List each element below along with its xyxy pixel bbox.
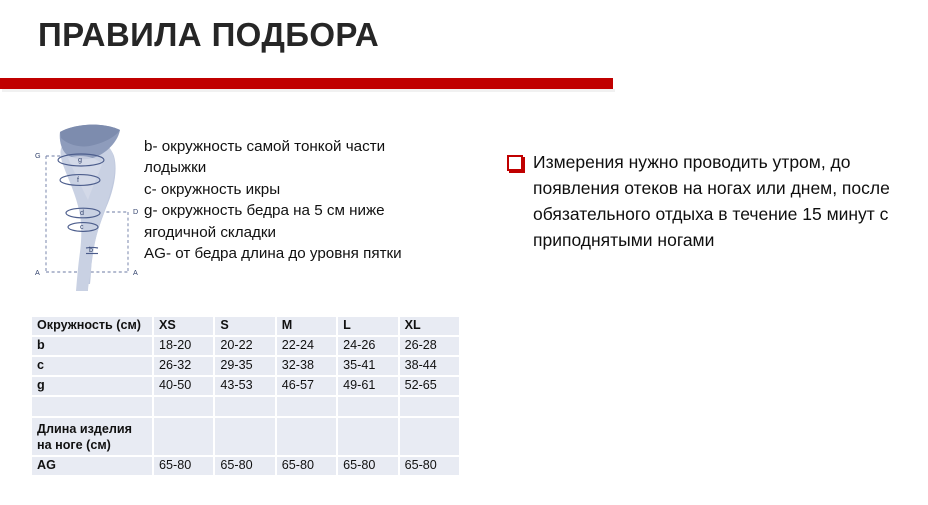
row-label: c [32, 356, 153, 376]
row-cell: 24-26 [337, 336, 398, 356]
row-cell [153, 396, 214, 417]
table-section-row: Длина изделия на ноге (см) [32, 417, 459, 456]
note-bullet-row: Измерения нужно проводить утром, до появ… [507, 150, 907, 254]
table-spacer-row [32, 396, 459, 417]
header-measure: Окружность (см) [32, 317, 153, 336]
row-cell: 43-53 [214, 376, 275, 396]
leg-measurement-diagram: g f d c b G D A A [32, 112, 152, 294]
row-cell: 46-57 [276, 376, 337, 396]
square-bullet-icon [507, 155, 523, 171]
row-cell: 26-28 [399, 336, 459, 356]
page-title: ПРАВИЛА ПОДБОРА [38, 17, 379, 53]
row-cell [337, 396, 398, 417]
header-size-xs: XS [153, 317, 214, 336]
row-cell: 65-80 [399, 456, 459, 475]
label-d: d [80, 208, 84, 217]
row-cell [276, 417, 337, 456]
title-divider-rule [0, 78, 613, 89]
row-label [32, 396, 153, 417]
label-f: f [77, 175, 79, 184]
measurement-legend: b- окружность самой тонкой части лодыжки… [144, 136, 440, 265]
label-A-right: A [133, 268, 138, 277]
size-chart-table: Окружность (см) XS S M L XL b 18-20 20-2… [32, 317, 459, 475]
row-cell: 35-41 [337, 356, 398, 376]
table-row: b 18-20 20-22 22-24 24-26 26-28 [32, 336, 459, 356]
measurement-note: Измерения нужно проводить утром, до появ… [507, 150, 907, 254]
row-cell: 49-61 [337, 376, 398, 396]
row-cell [399, 396, 459, 417]
title-divider-shadow [2, 89, 615, 92]
label-b: b [89, 245, 93, 254]
header-size-xl: XL [399, 317, 459, 336]
row-cell: 32-38 [276, 356, 337, 376]
table-row: AG 65-80 65-80 65-80 65-80 65-80 [32, 456, 459, 475]
row-cell: 38-44 [399, 356, 459, 376]
header-size-s: S [214, 317, 275, 336]
table-row: g 40-50 43-53 46-57 49-61 52-65 [32, 376, 459, 396]
row-cell: 65-80 [337, 456, 398, 475]
header-size-l: L [337, 317, 398, 336]
row-label: g [32, 376, 153, 396]
table-header-row: Окружность (см) XS S M L XL [32, 317, 459, 336]
row-cell: 52-65 [399, 376, 459, 396]
row-cell: 65-80 [276, 456, 337, 475]
legend-line-ag: AG- от бедра длина до уровня пятки [144, 243, 440, 264]
leg-silhouette [60, 125, 120, 291]
section-label: Длина изделия на ноге (см) [32, 417, 153, 456]
note-text: Измерения нужно проводить утром, до появ… [533, 152, 890, 250]
row-cell: 65-80 [214, 456, 275, 475]
label-G: G [35, 151, 41, 160]
label-A-left: A [35, 268, 40, 277]
label-g: g [78, 155, 82, 164]
row-label: AG [32, 456, 153, 475]
table-row: c 26-32 29-35 32-38 35-41 38-44 [32, 356, 459, 376]
row-cell [337, 417, 398, 456]
row-cell [276, 396, 337, 417]
label-D: D [133, 207, 138, 216]
row-cell [214, 417, 275, 456]
row-cell: 26-32 [153, 356, 214, 376]
legend-line-b: b- окружность самой тонкой части лодыжки [144, 136, 440, 179]
header-size-m: M [276, 317, 337, 336]
row-cell [153, 417, 214, 456]
label-c: c [80, 222, 84, 231]
row-cell: 40-50 [153, 376, 214, 396]
row-cell: 20-22 [214, 336, 275, 356]
row-cell: 65-80 [153, 456, 214, 475]
row-cell: 18-20 [153, 336, 214, 356]
legend-line-c: c- окружность икры [144, 179, 440, 200]
row-cell [399, 417, 459, 456]
row-cell [214, 396, 275, 417]
row-cell: 29-35 [214, 356, 275, 376]
row-label: b [32, 336, 153, 356]
row-cell: 22-24 [276, 336, 337, 356]
legend-line-g: g- окружность бедра на 5 см ниже ягодичн… [144, 200, 440, 243]
